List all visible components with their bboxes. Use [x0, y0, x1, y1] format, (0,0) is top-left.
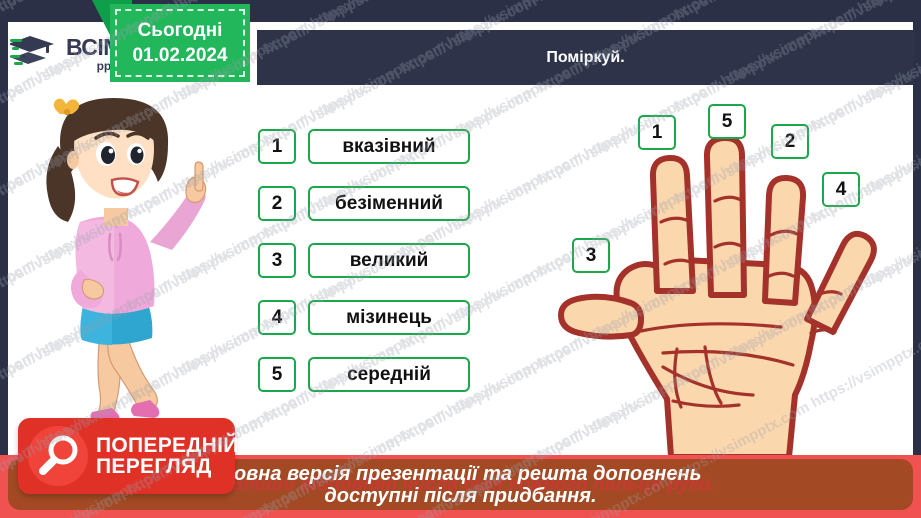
date-badge-label: Сьогодні: [138, 20, 223, 42]
list-item[interactable]: 2 безіменний: [258, 186, 478, 221]
graduation-cap-icon: [10, 32, 62, 76]
hand-tag-ring-finger[interactable]: 2: [771, 124, 809, 159]
hand-tag-index-finger[interactable]: 1: [638, 115, 676, 150]
hand-illustration: [545, 95, 905, 460]
list-item[interactable]: 4 мізинець: [258, 300, 478, 335]
header-bar: Поміркуй.: [257, 30, 914, 85]
date-badge: Сьогодні 01.02.2024: [110, 4, 250, 82]
word-number: 4: [258, 300, 296, 335]
word-number: 1: [258, 129, 296, 164]
word-label[interactable]: вказівний: [308, 129, 470, 164]
hand-tag-middle-finger[interactable]: 5: [708, 104, 746, 139]
slide-root: ВСІМ pptx Сьогодні 01.02.2024 Поміркуй.: [0, 0, 921, 518]
hand-tag-thumb[interactable]: 3: [572, 238, 610, 273]
word-label[interactable]: великий: [308, 243, 470, 278]
word-number: 3: [258, 243, 296, 278]
preview-badge-line-1: ПОПЕРЕДНІЙ: [96, 435, 239, 456]
word-list: 1 вказівний 2 безіменний 3 великий 4 міз…: [258, 129, 478, 392]
watermark-text: https://vsimpptx.com https://vsimpptx.co…: [0, 0, 921, 1]
girl-character-illustration: [22, 92, 217, 422]
hand-tag-little-finger[interactable]: 4: [822, 172, 860, 207]
word-number: 5: [258, 357, 296, 392]
page-title: Поміркуй.: [546, 49, 624, 67]
task-caption: Впиши відповідні числа біля кожного паль…: [229, 474, 715, 496]
list-item[interactable]: 1 вказівний: [258, 129, 478, 164]
list-item[interactable]: 5 середній: [258, 357, 478, 392]
preview-badge[interactable]: ПОПЕРЕДНІЙ ПЕРЕГЛЯД: [18, 418, 235, 494]
magnifier-icon: [28, 426, 88, 486]
word-label[interactable]: безіменний: [308, 186, 470, 221]
word-number: 2: [258, 186, 296, 221]
list-item[interactable]: 3 великий: [258, 243, 478, 278]
date-badge-value: 01.02.2024: [132, 45, 227, 67]
word-label[interactable]: середній: [308, 357, 470, 392]
preview-badge-line-2: ПЕРЕГЛЯД: [96, 456, 239, 477]
word-label[interactable]: мізинець: [308, 300, 470, 335]
